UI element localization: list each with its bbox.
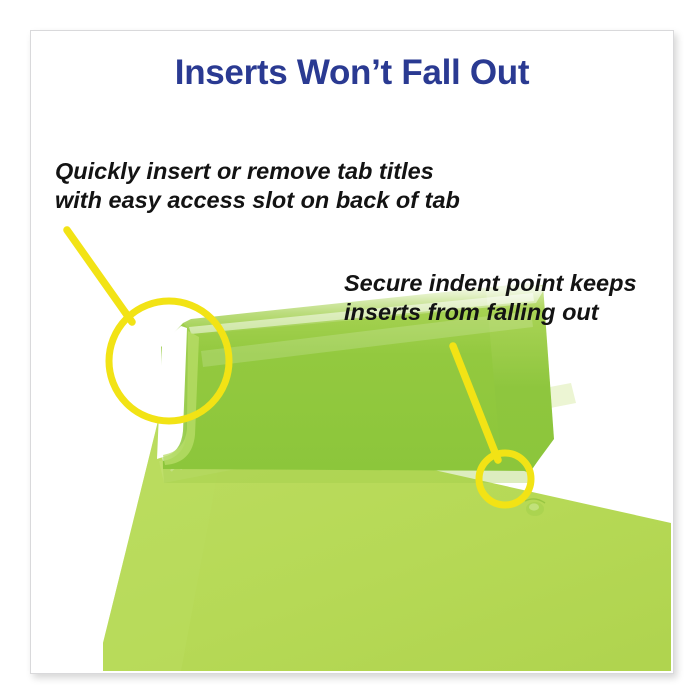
callout-indent-point-line2: inserts from falling out bbox=[344, 298, 637, 327]
access-slot-notch bbox=[157, 326, 199, 465]
callout-access-slot-line1: Quickly insert or remove tab titles bbox=[55, 157, 460, 186]
product-image-card: Inserts Won’t Fall Out Quickly insert or… bbox=[30, 30, 674, 674]
callout-access-slot-text: Quickly insert or remove tab titles with… bbox=[55, 157, 460, 215]
page-title: Inserts Won’t Fall Out bbox=[31, 53, 673, 93]
screenshot-root: Inserts Won’t Fall Out Quickly insert or… bbox=[0, 0, 700, 700]
callout-access-slot-line2: with easy access slot on back of tab bbox=[55, 186, 460, 215]
callout-indent-point-line1: Secure indent point keeps bbox=[344, 269, 637, 298]
product-photo bbox=[31, 31, 671, 671]
callout-indent-point-text: Secure indent point keeps inserts from f… bbox=[344, 269, 637, 327]
